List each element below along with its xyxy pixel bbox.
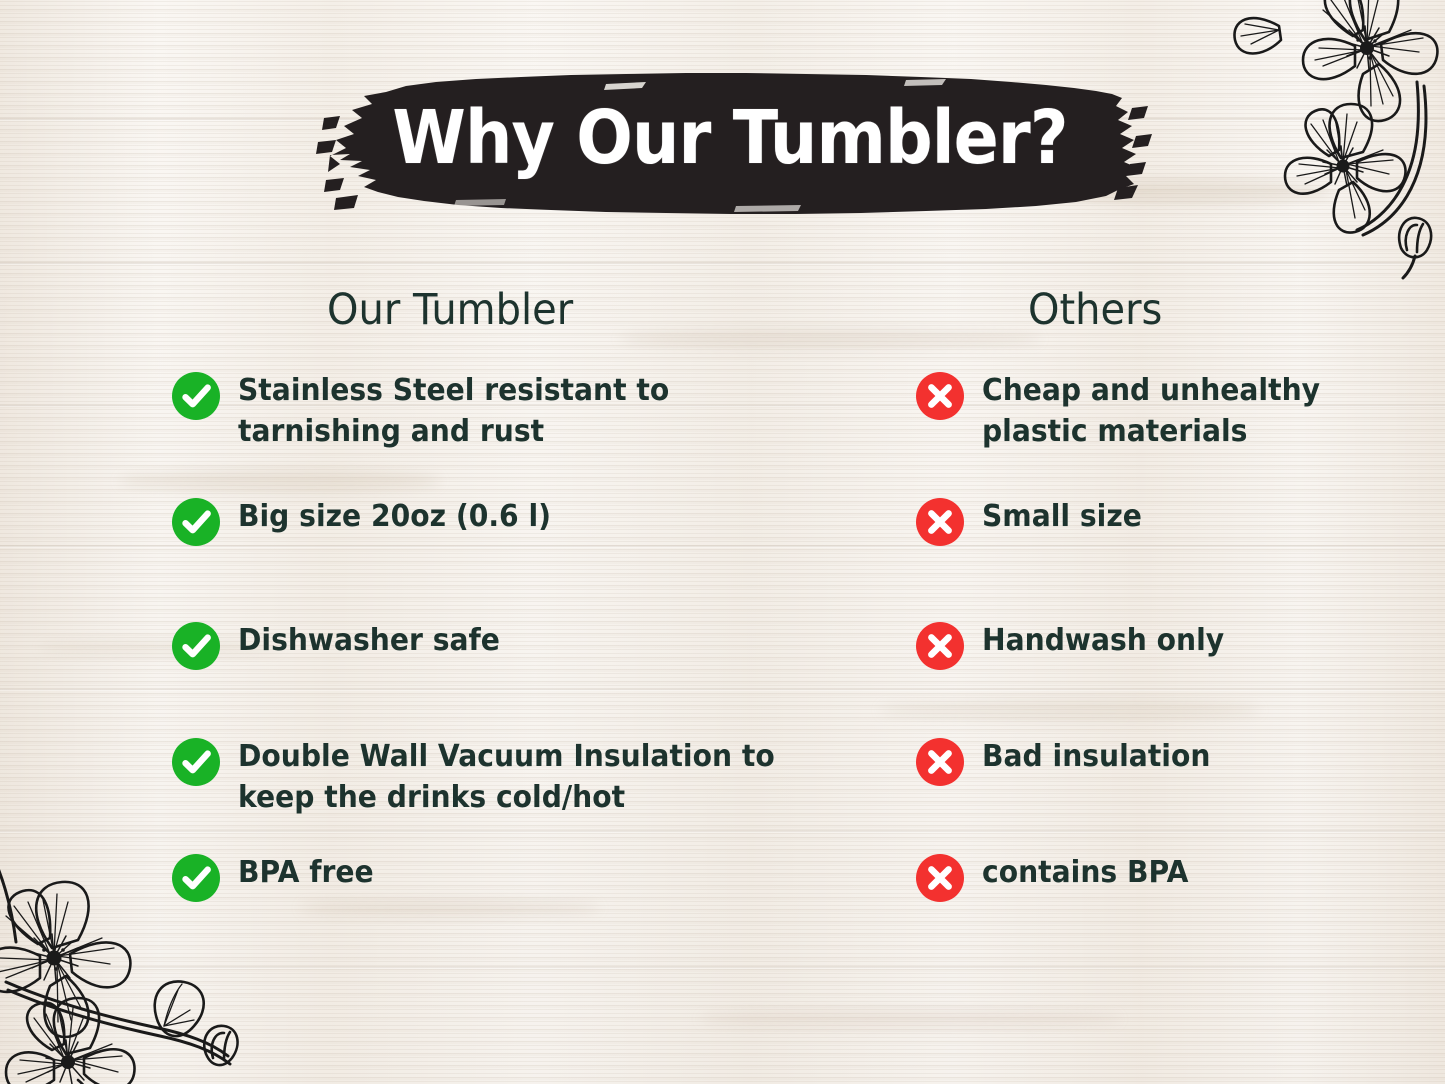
cross-circle-icon: [916, 498, 964, 546]
check-circle-icon: [172, 498, 220, 546]
plank-seam: [0, 966, 1445, 969]
drawback-row: Cheap and unhealthy plastic materials: [916, 370, 1342, 452]
drawback-text: Small size: [982, 496, 1142, 537]
feature-row: Dishwasher safe: [172, 620, 517, 670]
check-circle-icon: [172, 622, 220, 670]
drawback-text: Cheap and unhealthy plastic materials: [982, 370, 1320, 452]
check-circle-icon: [172, 854, 220, 902]
column-heading-others: Others: [1028, 285, 1162, 335]
cross-circle-icon: [916, 738, 964, 786]
plank-seam: [0, 262, 1445, 265]
drawback-text: contains BPA: [982, 852, 1188, 893]
drawback-row: Bad insulation: [916, 736, 1225, 786]
feature-text: BPA free: [238, 852, 374, 893]
drawback-text: Handwash only: [982, 620, 1224, 661]
drawback-row: contains BPA: [916, 852, 1202, 902]
page-title: Why Our Tumbler?: [348, 90, 1111, 186]
check-circle-icon: [172, 372, 220, 420]
feature-row: Stainless Steel resistant to tarnishing …: [172, 370, 697, 452]
plank-seam: [0, 830, 1445, 833]
feature-row: Big size 20oz (0.6 l): [172, 496, 571, 546]
feature-text: Double Wall Vacuum Insulation to keep th…: [238, 736, 775, 818]
cross-circle-icon: [916, 622, 964, 670]
feature-text: Stainless Steel resistant to tarnishing …: [238, 370, 669, 452]
feature-row: BPA free: [172, 852, 382, 902]
poster-canvas: Why Our Tumbler? Our Tumbler Others Stai…: [0, 0, 1445, 1084]
drawback-text: Bad insulation: [982, 736, 1210, 777]
cross-circle-icon: [916, 372, 964, 420]
plank-seam: [0, 688, 1445, 691]
title-banner: Why Our Tumbler?: [306, 60, 1154, 226]
check-circle-icon: [172, 738, 220, 786]
column-heading-ours: Our Tumbler: [327, 285, 573, 335]
drawback-row: Small size: [916, 496, 1152, 546]
feature-row: Double Wall Vacuum Insulation to keep th…: [172, 736, 809, 818]
cross-circle-icon: [916, 854, 964, 902]
drawback-row: Handwash only: [916, 620, 1240, 670]
feature-text: Dishwasher safe: [238, 620, 500, 661]
feature-text: Big size 20oz (0.6 l): [238, 496, 551, 537]
